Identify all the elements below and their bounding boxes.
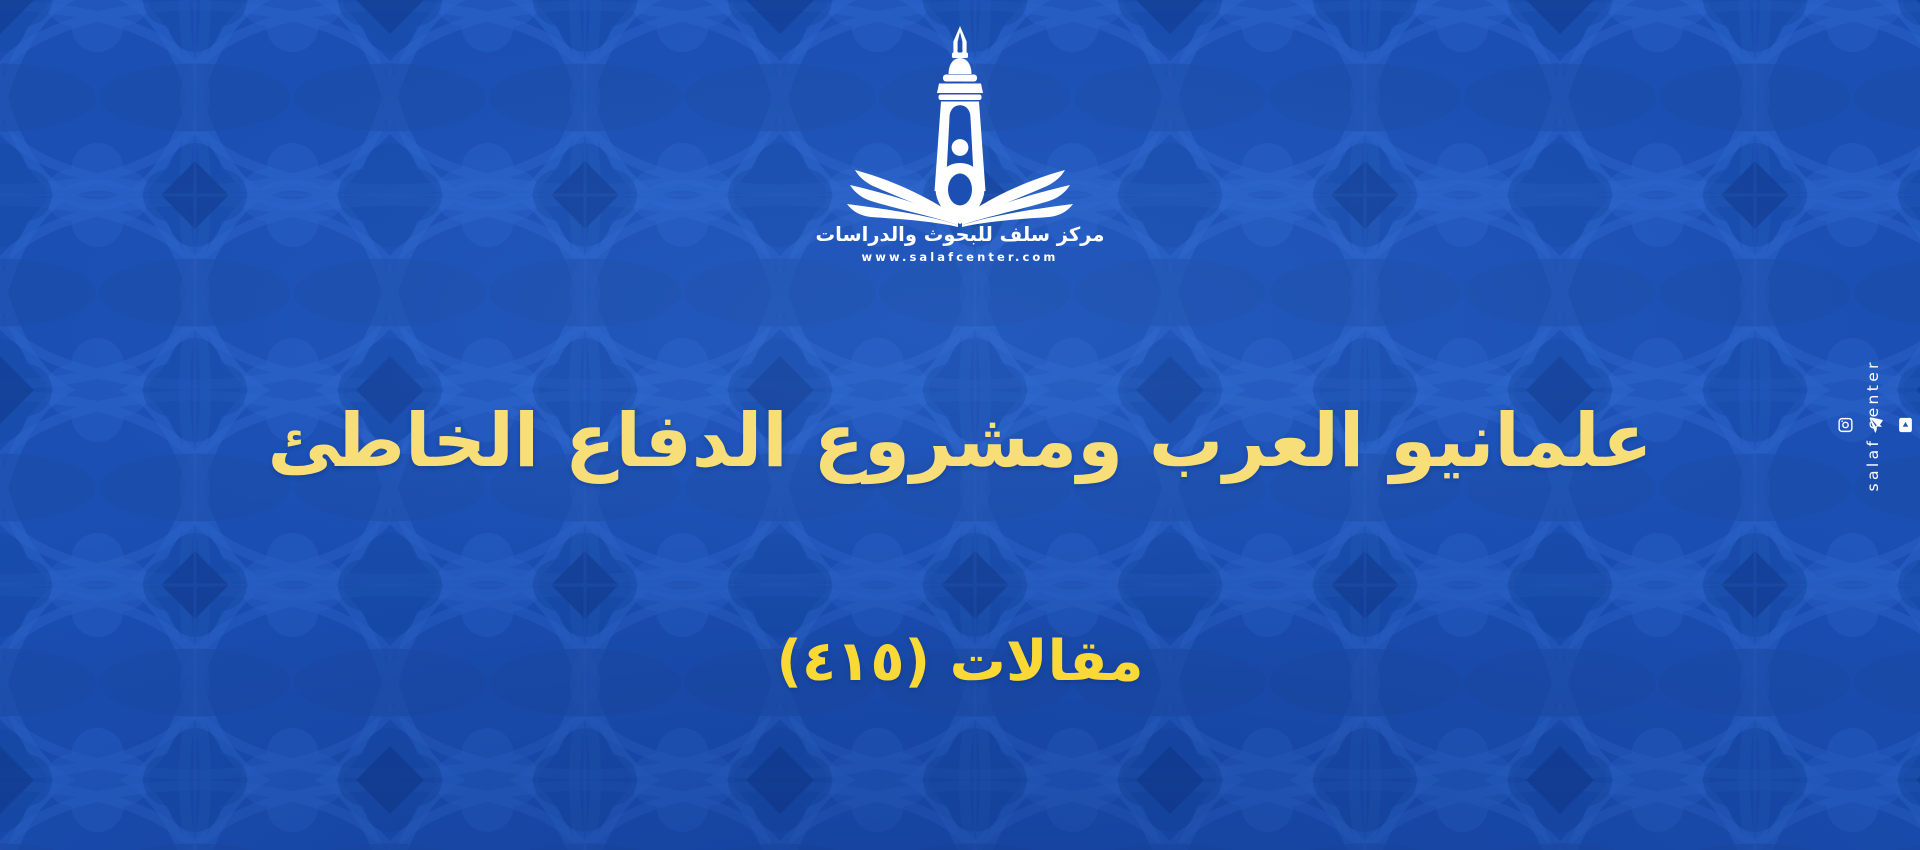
- logo-organization-name: مركز سلف للبحوث والدراسات: [816, 225, 1105, 245]
- logo-website-url: www.salafcenter.com: [862, 252, 1059, 264]
- minaret-pen-book-logo-icon: [842, 22, 1078, 227]
- telegram-icon[interactable]: [1867, 417, 1884, 434]
- social-icon-group: [1837, 417, 1920, 434]
- banner-root: مركز سلف للبحوث والدراسات www.salafcente…: [0, 0, 1920, 850]
- youtube-icon[interactable]: [1897, 417, 1914, 434]
- instagram-icon[interactable]: [1837, 417, 1854, 434]
- logo-block: مركز سلف للبحوث والدراسات www.salafcente…: [810, 22, 1110, 263]
- page-title: علمانيو العرب ومشروع الدفاع الخاطئ: [0, 398, 1920, 485]
- article-count-subtitle: مقالات (٤١٥): [0, 628, 1920, 695]
- social-side-rail: salaf center: [1864, 357, 1914, 494]
